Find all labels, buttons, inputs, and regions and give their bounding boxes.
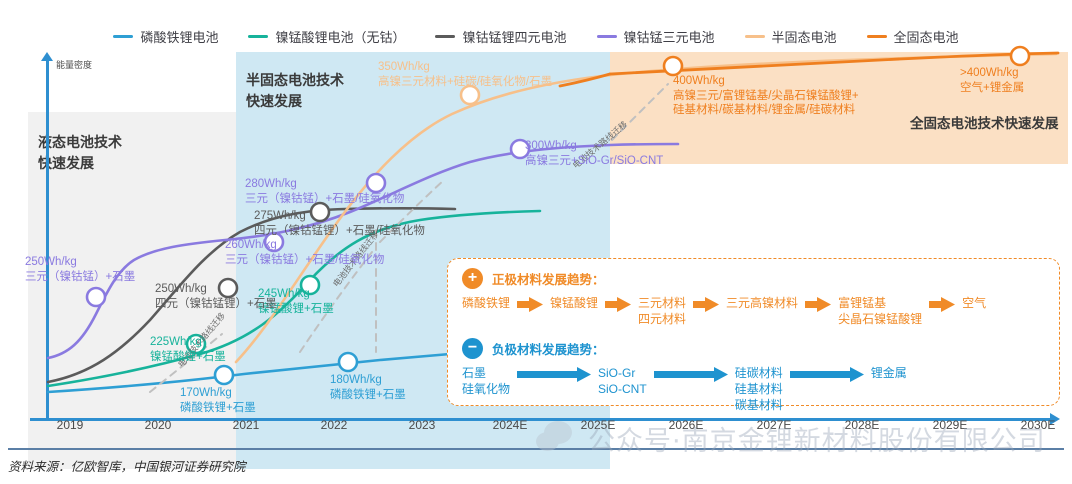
datapoint-value: >400Wh/kg <box>960 66 1024 81</box>
datapoint-material: 三元（镍钴锰）+石墨/硅氧化物 <box>225 253 384 268</box>
chain-node: 锂金属 <box>871 365 907 381</box>
anode-title: 负极材料发展趋势： <box>492 339 605 358</box>
datapoint-label: 350Wh/kg高镍三元材料+硅碳/硅氧化物/石墨 <box>378 60 552 89</box>
legend-label: 磷酸铁锂电池 <box>140 27 218 46</box>
legend-item[interactable]: 镍钴锰锂四元电池 <box>435 27 566 46</box>
cathode-chain: 磷酸铁锂镍锰酸锂三元材料 四元材料三元高镍材料富锂锰基 尖晶石镍锰酸锂空气 <box>462 295 986 327</box>
datapoint-value: 250Wh/kg <box>25 255 135 270</box>
data-point-marker[interactable] <box>87 288 105 306</box>
arrow-right-icon <box>693 297 719 312</box>
datapoint-label: 275Wh/kg四元（镍钴锰锂）+石墨/硅氧化物 <box>254 209 425 238</box>
datapoint-value: 180Wh/kg <box>330 373 406 388</box>
arrow-right-icon <box>790 367 864 382</box>
legend-item[interactable]: 镍钴锰三元电池 <box>597 27 715 46</box>
legend-swatch-icon <box>745 35 765 38</box>
datapoint-label: >400Wh/kg空气+锂金属 <box>960 66 1024 95</box>
legend-label: 镍锰酸锂电池（无钴） <box>275 27 405 46</box>
datapoint-value: 225Wh/kg <box>150 335 226 350</box>
datapoint-material: 高镍三元/富锂锰基/尖晶石镍锰酸锂+ 硅基材料/碳基材料/锂金属/硅碳材料 <box>673 89 859 118</box>
datapoint-value: 400Wh/kg <box>673 74 859 89</box>
arrow-right-icon <box>805 297 831 312</box>
datapoint-label: 400Wh/kg高镍三元/富锂锰基/尖晶石镍锰酸锂+ 硅基材料/碳基材料/锂金属… <box>673 74 859 118</box>
chain-node: 石墨 硅氧化物 <box>462 365 510 397</box>
x-tick-label: 2020 <box>145 418 172 432</box>
arrow-right-icon <box>605 297 631 312</box>
datapoint-material: 空气+锂金属 <box>960 81 1024 96</box>
legend-swatch-icon <box>435 35 455 38</box>
datapoint-label: 280Wh/kg三元（镍钴锰）+石墨/硅氧化物 <box>245 177 404 206</box>
chain-node: 空气 <box>962 295 986 311</box>
datapoint-material: 三元（镍钴锰）+石墨/硅氧化物 <box>245 192 404 207</box>
source-note: 资料来源：亿欧智库，中国银河证券研究院 <box>8 456 246 475</box>
datapoint-material: 三元（镍钴锰）+石墨 <box>25 270 135 285</box>
legend-item[interactable]: 半固态电池 <box>745 27 837 46</box>
material-trend-box: + 正极材料发展趋势： 磷酸铁锂镍锰酸锂三元材料 四元材料三元高镍材料富锂锰基 … <box>447 258 1060 406</box>
legend-swatch-icon <box>113 35 133 38</box>
chain-node: 镍锰酸锂 <box>550 295 598 311</box>
datapoint-label: 260Wh/kg三元（镍钴锰）+石墨/硅氧化物 <box>225 238 384 267</box>
data-point-marker[interactable] <box>215 366 233 384</box>
datapoint-material: 高镍三元+SiO-Gr/SiO-CNT <box>525 154 663 169</box>
x-tick-label: 2026E <box>669 418 704 432</box>
legend-label: 镍钴锰三元电池 <box>624 27 715 46</box>
anode-header: − 负极材料发展趋势： <box>462 338 605 359</box>
datapoint-label: 300Wh/kg高镍三元+SiO-Gr/SiO-CNT <box>525 139 663 168</box>
anode-chain: 石墨 硅氧化物SiO-Gr SiO-CNT硅碳材料 硅基材料 碳基材料锂金属 <box>462 365 907 414</box>
cathode-title: 正极材料发展趋势： <box>492 269 605 288</box>
arrow-right-icon <box>654 367 728 382</box>
legend-swatch-icon <box>597 35 617 38</box>
datapoint-label: 180Wh/kg磷酸铁锂+石墨 <box>330 373 406 402</box>
legend-label: 半固态电池 <box>772 27 837 46</box>
datapoint-value: 260Wh/kg <box>225 238 384 253</box>
x-tick-label: 2025E <box>581 418 616 432</box>
arrow-right-icon <box>517 297 543 312</box>
data-point-marker[interactable] <box>339 353 357 371</box>
x-tick-label: 2023 <box>409 418 436 432</box>
chart-legend: 磷酸铁锂电池镍锰酸锂电池（无钴）镍钴锰锂四元电池镍钴锰三元电池半固态电池全固态电… <box>0 24 1072 48</box>
legend-swatch-icon <box>248 35 268 38</box>
chart-root: 磷酸铁锂电池镍锰酸锂电池（无钴）镍钴锰锂四元电池镍钴锰三元电池半固态电池全固态电… <box>0 0 1072 484</box>
x-tick-label: 2024E <box>493 418 528 432</box>
legend-item[interactable]: 镍锰酸锂电池（无钴） <box>248 27 405 46</box>
datapoint-value: 350Wh/kg <box>378 60 552 75</box>
datapoint-label: 170Wh/kg磷酸铁锂+石墨 <box>180 386 256 415</box>
x-tick-label: 2030E <box>1021 418 1056 432</box>
chain-node: SiO-Gr SiO-CNT <box>598 365 647 397</box>
datapoint-value: 300Wh/kg <box>525 139 663 154</box>
data-point-marker[interactable] <box>664 57 682 75</box>
datapoint-material: 磷酸铁锂+石墨 <box>330 388 406 403</box>
datapoint-material: 四元（镍钴锰锂）+石墨 <box>155 297 277 312</box>
x-axis-ticks: 201920202021202220232024E2025E2026E2027E… <box>0 418 1072 438</box>
plus-icon: + <box>462 268 483 289</box>
datapoint-value: 250Wh/kg <box>155 282 277 297</box>
x-tick-label: 2027E <box>757 418 792 432</box>
chain-node: 三元高镍材料 <box>726 295 798 311</box>
chain-node: 硅碳材料 硅基材料 碳基材料 <box>735 365 783 414</box>
arrow-right-icon <box>517 367 591 382</box>
legend-item[interactable]: 全固态电池 <box>867 27 959 46</box>
datapoint-label: 250Wh/kg四元（镍钴锰锂）+石墨 <box>155 282 277 311</box>
legend-label: 全固态电池 <box>894 27 959 46</box>
datapoint-value: 170Wh/kg <box>180 386 256 401</box>
footer-divider <box>8 448 1064 450</box>
x-tick-label: 2019 <box>57 418 84 432</box>
chain-node: 磷酸铁锂 <box>462 295 510 311</box>
minus-icon: − <box>462 338 483 359</box>
chain-node: 三元材料 四元材料 <box>638 295 686 327</box>
datapoint-value: 280Wh/kg <box>245 177 404 192</box>
x-tick-label: 2022 <box>321 418 348 432</box>
chain-node: 富锂锰基 尖晶石镍锰酸锂 <box>838 295 922 327</box>
datapoint-label: 225Wh/kg镍锰酸锂+石墨 <box>150 335 226 364</box>
data-point-marker[interactable] <box>1011 47 1029 65</box>
datapoint-material: 四元（镍钴锰锂）+石墨/硅氧化物 <box>254 224 425 239</box>
datapoint-material: 镍锰酸锂+石墨 <box>150 350 226 365</box>
datapoint-value: 275Wh/kg <box>254 209 425 224</box>
arrow-right-icon <box>929 297 955 312</box>
cathode-header: + 正极材料发展趋势： <box>462 268 605 289</box>
datapoint-label: 250Wh/kg三元（镍钴锰）+石墨 <box>25 255 135 284</box>
legend-label: 镍钴锰锂四元电池 <box>462 27 566 46</box>
x-tick-label: 2021 <box>233 418 260 432</box>
legend-swatch-icon <box>867 35 887 38</box>
x-tick-label: 2029E <box>933 418 968 432</box>
datapoint-material: 磷酸铁锂+石墨 <box>180 401 256 416</box>
x-tick-label: 2028E <box>845 418 880 432</box>
datapoint-material: 高镍三元材料+硅碳/硅氧化物/石墨 <box>378 75 552 90</box>
legend-item[interactable]: 磷酸铁锂电池 <box>113 27 218 46</box>
